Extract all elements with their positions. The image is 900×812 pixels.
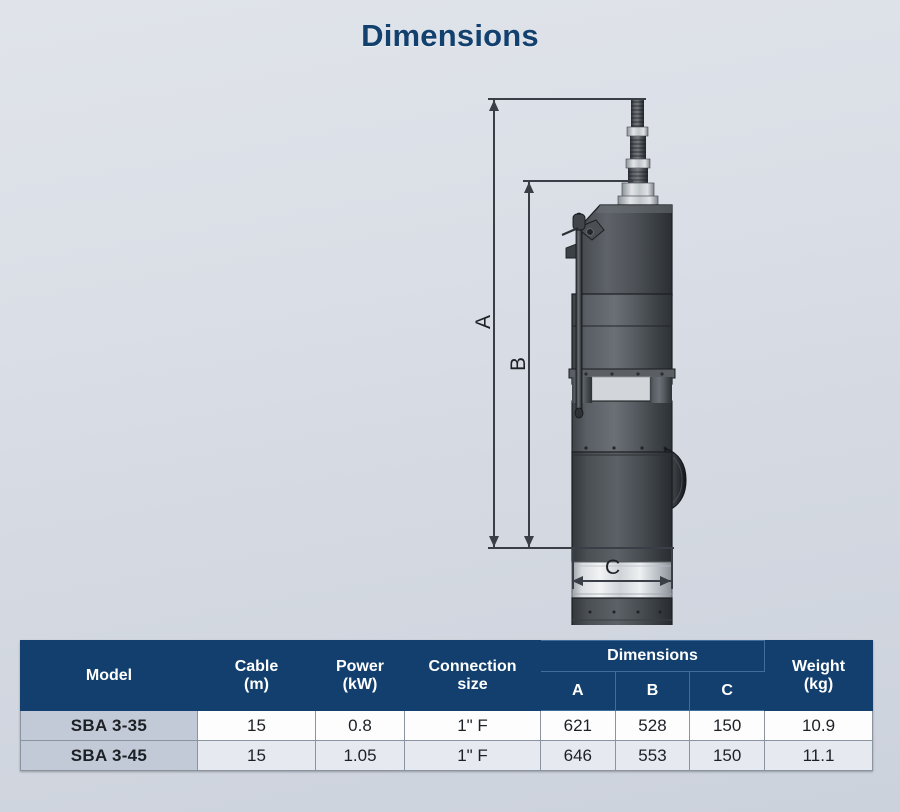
header-cable-line2: (m) <box>198 676 315 694</box>
pump-body-middle <box>572 377 672 453</box>
cell-cable: 15 <box>198 711 316 741</box>
cell-connection: 1" F <box>405 741 541 771</box>
cell-model: SBA 3-35 <box>21 711 198 741</box>
header-dim-b: B <box>615 672 690 711</box>
dim-a-arrow-bottom <box>489 536 499 547</box>
cell-dim-c: 150 <box>690 741 765 771</box>
cell-dim-c: 150 <box>690 711 765 741</box>
header-cable: Cable (m) <box>198 641 316 711</box>
dim-c-line <box>574 580 671 582</box>
cell-dim-b: 528 <box>615 711 690 741</box>
cell-power: 1.05 <box>316 741 405 771</box>
header-weight-line1: Weight <box>765 658 872 676</box>
header-power-line2: (kW) <box>316 676 404 694</box>
table-header-row-1: Model Cable (m) Power (kW) Connection si… <box>21 641 873 672</box>
cell-cable: 15 <box>198 741 316 771</box>
dim-bottom-extension <box>488 547 674 549</box>
dim-c-arrow-left <box>572 576 583 586</box>
specifications-table-wrapper: Model Cable (m) Power (kW) Connection si… <box>20 640 873 771</box>
table-row[interactable]: SBA 3-45 15 1.05 1" F 646 553 150 11.1 <box>21 741 873 771</box>
dim-b-arrow-top <box>524 182 534 193</box>
cell-power: 0.8 <box>316 711 405 741</box>
dim-a-extension-top <box>488 98 646 100</box>
pump-cable-gland <box>618 98 658 205</box>
cell-weight: 11.1 <box>765 741 873 771</box>
header-weight-line2: (kg) <box>765 676 872 694</box>
cell-dim-a: 646 <box>541 741 616 771</box>
header-power: Power (kW) <box>316 641 405 711</box>
dim-b-extension-top <box>523 180 633 182</box>
pump-body-lower <box>572 452 672 562</box>
pump-bottom-section <box>572 598 672 625</box>
cell-dim-a: 621 <box>541 711 616 741</box>
specifications-table: Model Cable (m) Power (kW) Connection si… <box>20 640 873 771</box>
cell-model: SBA 3-45 <box>21 741 198 771</box>
header-connection-line1: Connection <box>405 658 540 676</box>
header-weight: Weight (kg) <box>765 641 873 711</box>
dim-c-extension-right <box>671 547 673 589</box>
header-dimensions-group: Dimensions <box>541 641 765 672</box>
header-dim-a: A <box>541 672 616 711</box>
cell-dim-b: 553 <box>615 741 690 771</box>
table-row[interactable]: SBA 3-35 15 0.8 1" F 621 528 150 10.9 <box>21 711 873 741</box>
dim-b-label: B <box>507 352 531 376</box>
dim-c-label: C <box>605 556 620 580</box>
header-model: Model <box>21 641 198 711</box>
table-body: SBA 3-35 15 0.8 1" F 621 528 150 10.9 SB… <box>21 711 873 771</box>
cell-weight: 10.9 <box>765 711 873 741</box>
header-dim-c: C <box>690 672 765 711</box>
dim-a-label: A <box>472 310 496 334</box>
dimension-drawing: A B C <box>0 80 900 625</box>
header-connection-size: Connection size <box>405 641 541 711</box>
dim-b-arrow-bottom <box>524 536 534 547</box>
cell-connection: 1" F <box>405 711 541 741</box>
table-header: Model Cable (m) Power (kW) Connection si… <box>21 641 873 711</box>
pump-illustration <box>0 80 900 625</box>
dim-c-arrow-right <box>660 576 671 586</box>
header-cable-line1: Cable <box>198 658 315 676</box>
header-connection-line2: size <box>405 676 540 694</box>
dim-a-arrow-top <box>489 100 499 111</box>
header-power-line1: Power <box>316 658 404 676</box>
page-title: Dimensions <box>0 18 900 54</box>
